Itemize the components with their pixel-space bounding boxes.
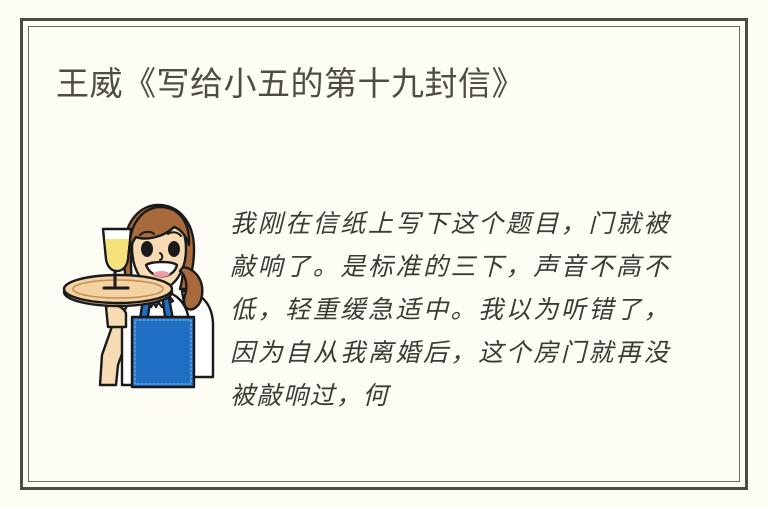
- waitress-with-tray-illustration: [56, 195, 228, 390]
- page-title: 王威《写给小五的第十九封信》: [56, 62, 716, 106]
- content-area: 我刚在信纸上写下这个题目，门就被敲响了。是标准的三下，声音不高不低，轻重缓急适中…: [40, 190, 730, 470]
- letter-card: 王威《写给小五的第十九封信》: [0, 0, 768, 510]
- letter-body-text: 我刚在信纸上写下这个题目，门就被敲响了。是标准的三下，声音不高不低，轻重缓急适中…: [230, 202, 670, 417]
